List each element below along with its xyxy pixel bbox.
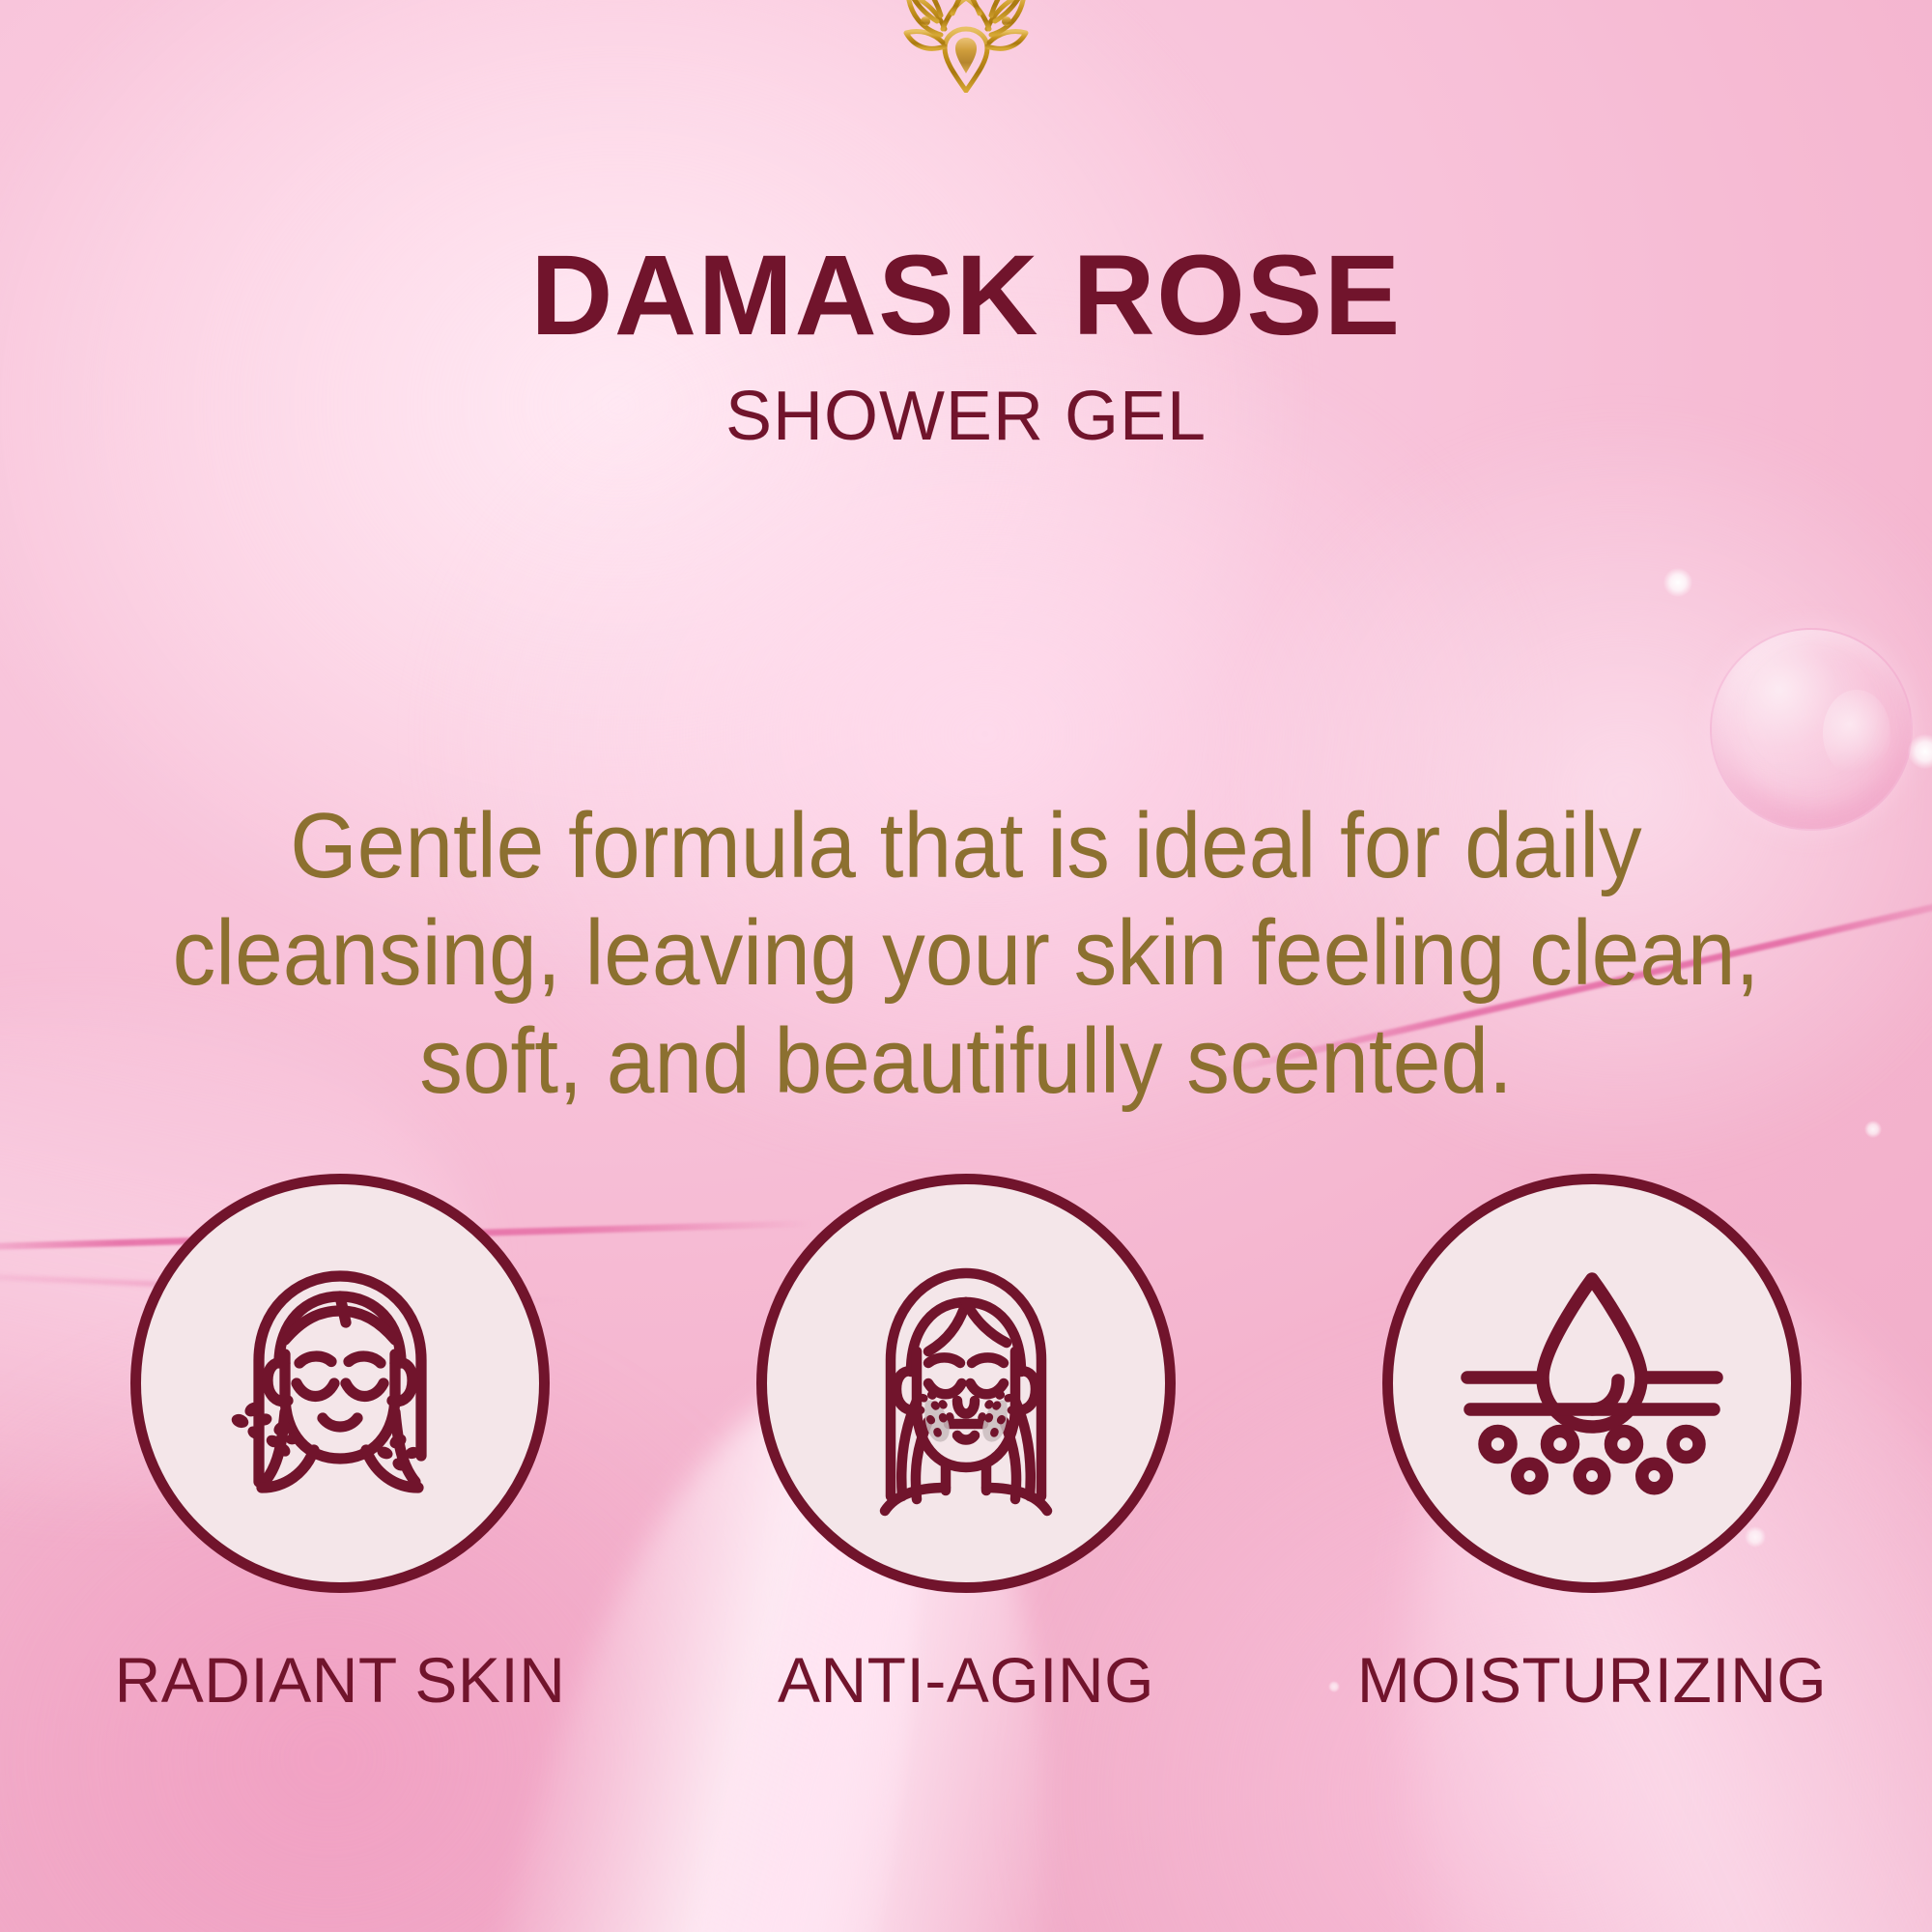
feature-anti-aging: ANTI-AGING	[696, 1174, 1236, 1717]
molecule-dots-row-1	[1485, 1432, 1699, 1458]
feature-icon-circle	[1382, 1174, 1802, 1593]
feature-icon-circle	[756, 1174, 1176, 1593]
feature-moisturizing: MOISTURIZING	[1321, 1174, 1862, 1717]
feature-label: RADIANT SKIN	[115, 1643, 566, 1717]
product-subtitle: SHOWER GEL	[0, 377, 1932, 456]
product-description: Gentle formula that is ideal for daily c…	[166, 792, 1765, 1115]
feature-radiant-skin: RADIANT SKIN	[70, 1174, 611, 1717]
feature-icon-circle	[130, 1174, 550, 1593]
product-title: DAMASK ROSE	[0, 238, 1932, 354]
product-marketing-card: DAMASK ROSE SHOWER GEL Gentle formula th…	[0, 0, 1932, 1932]
molecule-dots-row-2	[1518, 1463, 1667, 1489]
feature-list: RADIANT SKIN	[75, 1174, 1857, 1717]
feature-label: ANTI-AGING	[778, 1643, 1154, 1717]
feature-label: MOISTURIZING	[1357, 1643, 1827, 1717]
wrinkle-face-icon	[821, 1238, 1111, 1528]
radiant-face-icon	[195, 1238, 485, 1528]
water-droplet-skin-layers-icon	[1447, 1238, 1737, 1528]
heading-block: DAMASK ROSE SHOWER GEL	[0, 238, 1932, 456]
